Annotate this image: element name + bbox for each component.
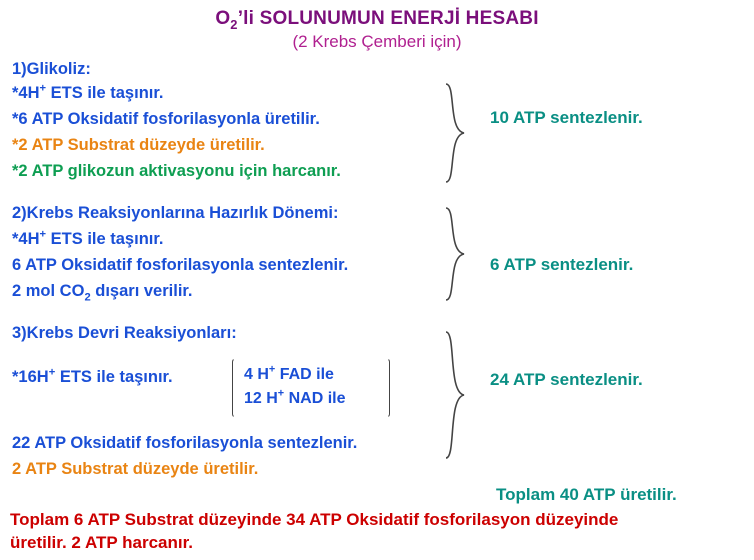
- box-line-2-post: NAD ile: [284, 390, 345, 407]
- section-1-line-1-pre: *4H: [12, 84, 40, 102]
- section-1-line-4: *2 ATP glikozun aktivasyonu için harcanı…: [12, 162, 341, 181]
- section-2-line-3-post: dışarı verilir.: [91, 282, 193, 300]
- section-3-line-1-post: ETS ile taşınır.: [55, 368, 172, 386]
- box-line-1-pre: 4 H: [244, 366, 269, 383]
- title-text-pre: O: [215, 8, 230, 29]
- title-text-post: ’li SOLUNUMUN ENERJİ HESABI: [238, 8, 539, 29]
- section-1-heading: 1)Glikoliz:: [12, 60, 91, 79]
- section-3-heading: 3)Krebs Devri Reaksiyonları:: [12, 324, 237, 343]
- page-title: O2’li SOLUNUMUN ENERJİ HESABI: [0, 8, 754, 30]
- box-line-1-post: FAD ile: [275, 366, 334, 383]
- section-2-heading: 2)Krebs Reaksiyonlarına Hazırlık Dönemi:: [12, 204, 338, 223]
- footer-line-2: üretilir. 2 ATP harcanır.: [10, 533, 193, 553]
- box-line-1: 4 H+ FAD ile: [244, 366, 334, 384]
- section-2-line-1-pre: *4H: [12, 230, 40, 248]
- box-line-2: 12 H+ NAD ile: [244, 390, 346, 408]
- footer-line-1: Toplam 6 ATP Substrat düzeyinde 34 ATP O…: [10, 510, 618, 530]
- section-3-line-1: *16H+ ETS ile taşınır.: [12, 368, 173, 387]
- section-1-line-3: *2 ATP Substrat düzeyde üretilir.: [12, 136, 265, 155]
- section-3-line-1-pre: *16H: [12, 368, 49, 386]
- section-2-line-1-post: ETS ile taşınır.: [46, 230, 163, 248]
- total-line: Toplam 40 ATP üretilir.: [496, 485, 677, 505]
- section-3-brace: [444, 330, 468, 460]
- section-3-tail-line-1: 22 ATP Oksidatif fosforilasyonla sentezl…: [12, 434, 357, 453]
- section-1-line-1-post: ETS ile taşınır.: [46, 84, 163, 102]
- section-1-line-2: *6 ATP Oksidatif fosforilasyonla üretili…: [12, 110, 320, 129]
- worksheet-page: O2’li SOLUNUMUN ENERJİ HESABI (2 Krebs Ç…: [0, 0, 754, 560]
- box-line-2-pre: 12 H: [244, 390, 278, 407]
- section-2-line-1: *4H+ ETS ile taşınır.: [12, 230, 163, 249]
- section-2-line-3: 2 mol CO2 dışarı verilir.: [12, 282, 193, 301]
- section-1-result: 10 ATP sentezlenir.: [490, 108, 643, 128]
- section-2-brace: [444, 206, 468, 302]
- page-subtitle: (2 Krebs Çemberi için): [0, 32, 754, 52]
- section-2-line-2: 6 ATP Oksidatif fosforilasyonla sentezle…: [12, 256, 348, 275]
- section-3-tail-line-2: 2 ATP Substrat düzeyde üretilir.: [12, 460, 258, 479]
- section-1-brace: [444, 82, 468, 184]
- section-2-line-3-pre: 2 mol CO: [12, 282, 84, 300]
- section-1-line-1: *4H+ ETS ile taşınır.: [12, 84, 163, 103]
- title-subscript: 2: [230, 17, 237, 32]
- section-3-result: 24 ATP sentezlenir.: [490, 370, 643, 390]
- section-2-result: 6 ATP sentezlenir.: [490, 255, 633, 275]
